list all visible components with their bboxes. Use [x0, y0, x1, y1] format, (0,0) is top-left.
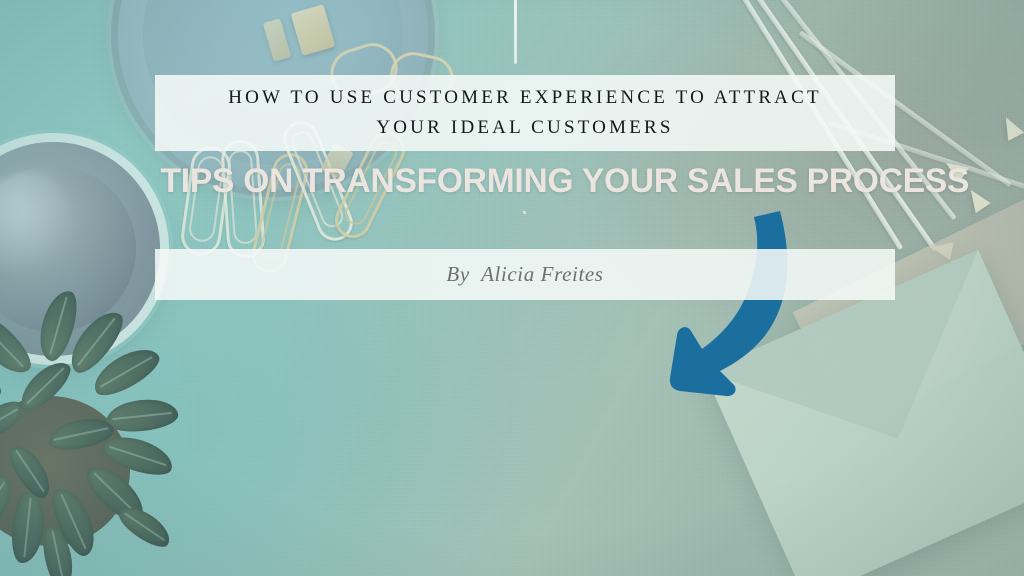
title-card: HOW TO USE CUSTOMER EXPERIENCE TO ATTRAC…: [0, 0, 1024, 576]
curved-down-left-arrow-icon: [668, 205, 808, 400]
title-line-1: HOW TO USE CUSTOMER EXPERIENCE TO ATTRAC…: [228, 85, 822, 111]
headline: TIPS ON TRANSFORMING YOUR SALES PROCESS: [161, 164, 890, 198]
title-line-2: YOUR IDEAL CUSTOMERS: [376, 115, 673, 141]
byline-text: By Alicia Freites: [446, 262, 603, 287]
dot-artifact: [523, 211, 526, 214]
byline-band: By Alicia Freites: [155, 249, 895, 300]
title-band: HOW TO USE CUSTOMER EXPERIENCE TO ATTRAC…: [155, 75, 895, 151]
